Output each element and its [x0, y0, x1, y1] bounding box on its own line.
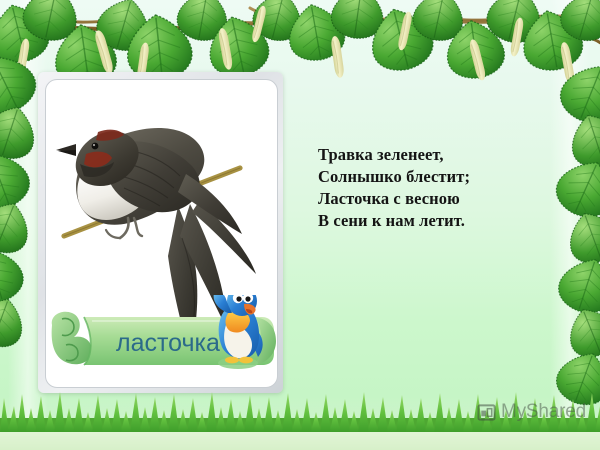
banner-label: ласточка — [116, 329, 220, 357]
poem-line-4: В сени к нам летит. — [318, 210, 568, 232]
flashcard-inner: ласточка — [45, 79, 278, 388]
myshared-watermark: MyShared — [477, 401, 586, 423]
poem-text: Травка зеленеет, Солнышко блестит; Ласто… — [318, 144, 568, 232]
watermark-label: MyShared — [501, 401, 586, 423]
ground-band — [0, 430, 600, 450]
slide-canvas: ласточка — [0, 0, 600, 450]
flashcard: ласточка — [38, 72, 283, 393]
word-banner: ласточка — [48, 295, 278, 381]
myshared-logo-icon — [477, 403, 496, 422]
poem-line-2: Солнышко блестит; — [318, 166, 568, 188]
poem-line-3: Ласточка с весною — [318, 188, 568, 210]
poem-line-1: Травка зеленеет, — [318, 144, 568, 166]
